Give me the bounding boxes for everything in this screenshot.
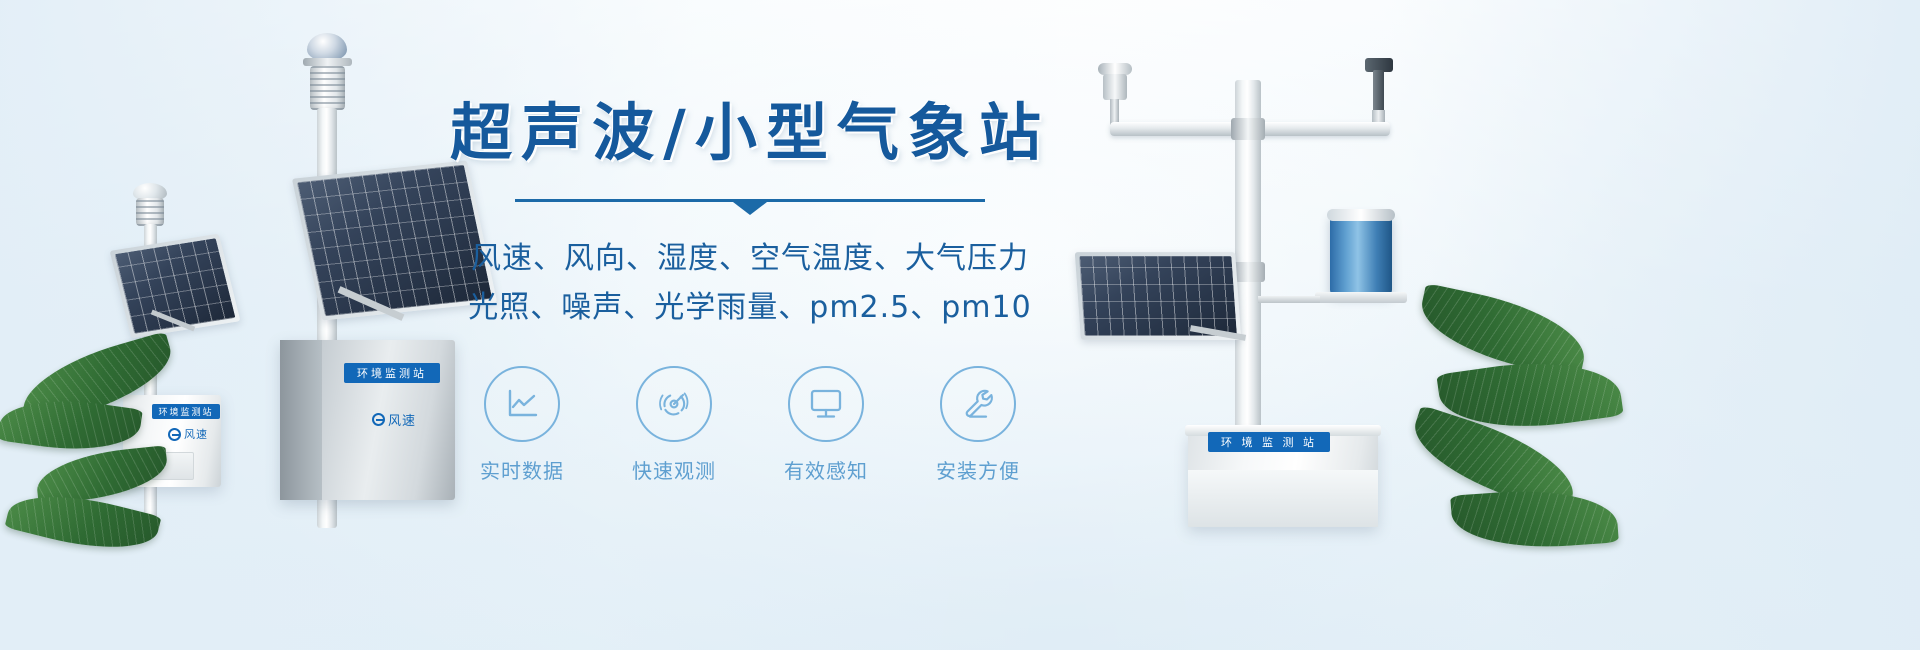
radiation-shield-left-tall bbox=[310, 66, 345, 110]
feature-item-effective-sensing[interactable]: 有效感知 bbox=[771, 366, 881, 484]
cabinet-brand-left-tall: 风速 bbox=[356, 410, 432, 428]
rain-gauge-shelf bbox=[1315, 292, 1407, 303]
mast-collar-right bbox=[1231, 118, 1265, 140]
product-banner: 环境监测站 风速 环境监测站 风速 bbox=[0, 0, 1920, 650]
subtitle-line-2: 光照、噪声、光学雨量、pm2.5、pm10 bbox=[440, 284, 1060, 333]
feature-icon-circle bbox=[636, 366, 712, 442]
brand-text: 风速 bbox=[388, 410, 416, 429]
feature-item-easy-install[interactable]: 安装方便 bbox=[923, 366, 1033, 484]
subtitle-block: 风速、风向、湿度、空气温度、大气压力 光照、噪声、光学雨量、pm2.5、pm10 bbox=[440, 235, 1060, 332]
brand-text: 风速 bbox=[184, 426, 208, 442]
solar-panel-right bbox=[1075, 252, 1242, 340]
feature-label: 安装方便 bbox=[923, 455, 1033, 484]
feature-item-fast-observation[interactable]: 快速观测 bbox=[619, 366, 729, 484]
ultrasonic-body-right bbox=[1103, 74, 1127, 100]
rain-gauge-rim bbox=[1327, 209, 1395, 221]
cabinet-lower-face-right bbox=[1188, 470, 1378, 527]
radiation-shield-left-small bbox=[136, 198, 164, 226]
feature-label: 快速观测 bbox=[619, 455, 729, 484]
radar-signal-icon bbox=[653, 383, 695, 425]
sensor-cap-left-tall bbox=[303, 58, 352, 66]
feature-item-realtime-data[interactable]: 实时数据 bbox=[467, 366, 577, 484]
subtitle-line-1: 风速、风向、湿度、空气温度、大气压力 bbox=[440, 235, 1060, 284]
cabinet-plaque-right: 环 境 监 测 站 bbox=[1208, 432, 1330, 452]
sensor-dome-left-tall bbox=[307, 33, 347, 61]
brand-logo-icon bbox=[372, 413, 385, 426]
feature-label: 有效感知 bbox=[771, 455, 881, 484]
feature-icon-circle bbox=[940, 366, 1016, 442]
wrench-icon bbox=[957, 383, 999, 425]
banner-text-block: 超声波/小型气象站 风速、风向、湿度、空气温度、大气压力 光照、噪声、光学雨量、… bbox=[440, 96, 1060, 484]
brand-logo-icon bbox=[168, 428, 181, 441]
wind-vane-body bbox=[1373, 70, 1384, 112]
cabinet-brand-left-small: 风速 bbox=[157, 426, 219, 442]
cabinet-plaque-left-small: 环境监测站 bbox=[152, 404, 220, 419]
feature-list: 实时数据 快速观测 bbox=[440, 366, 1060, 484]
monitor-icon bbox=[805, 385, 847, 423]
feature-icon-circle bbox=[788, 366, 864, 442]
title-divider bbox=[515, 199, 985, 219]
feature-label: 实时数据 bbox=[467, 455, 577, 484]
rain-gauge-arm bbox=[1258, 296, 1320, 303]
page-title: 超声波/小型气象站 bbox=[440, 96, 1060, 169]
divider-triangle-icon bbox=[733, 202, 767, 215]
line-chart-icon bbox=[502, 384, 542, 424]
feature-icon-circle bbox=[484, 366, 560, 442]
cabinet-side-panel-left-tall bbox=[280, 340, 322, 500]
rain-gauge-icon bbox=[1330, 213, 1392, 295]
cabinet-plaque-left-tall: 环境监测站 bbox=[344, 363, 440, 383]
